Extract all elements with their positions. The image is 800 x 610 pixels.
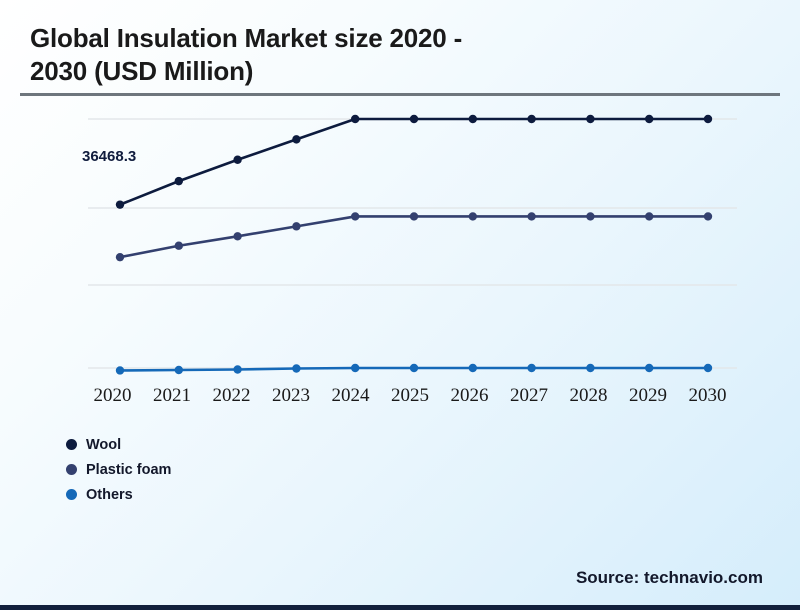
- data-point-others-2028[interactable]: [586, 364, 594, 372]
- legend-label: Others: [86, 487, 133, 503]
- x-tick-label-2020: 2020: [83, 385, 142, 407]
- data-point-others-2022[interactable]: [233, 365, 241, 373]
- data-point-others-2024[interactable]: [351, 364, 359, 372]
- data-point-others-2020[interactable]: [116, 366, 124, 374]
- chart-legend: WoolPlastic foamOthers: [66, 432, 171, 507]
- data-point-wool-2023[interactable]: [292, 135, 300, 143]
- x-tick-label-2027: 2027: [500, 385, 559, 407]
- data-point-wool-2020[interactable]: [116, 200, 124, 208]
- data-point-plastic-foam-2025[interactable]: [410, 212, 418, 220]
- x-tick-label-2025: 2025: [381, 385, 440, 407]
- data-point-wool-2024[interactable]: [351, 115, 359, 123]
- data-point-wool-2029[interactable]: [645, 115, 653, 123]
- legend-item-wool[interactable]: Wool: [66, 432, 171, 457]
- data-point-wool-2025[interactable]: [410, 115, 418, 123]
- source-attribution: Source: technavio.com: [576, 568, 763, 588]
- x-tick-label-2021: 2021: [143, 385, 202, 407]
- data-point-plastic-foam-2030[interactable]: [704, 212, 712, 220]
- data-point-others-2025[interactable]: [410, 364, 418, 372]
- legend-dot-icon: [66, 464, 77, 475]
- x-tick-label-2023: 2023: [262, 385, 321, 407]
- line-chart-svg: [0, 0, 800, 610]
- data-point-others-2027[interactable]: [527, 364, 535, 372]
- legend-dot-icon: [66, 489, 77, 500]
- data-point-wool-2030[interactable]: [704, 115, 712, 123]
- series-line-plastic-foam: [120, 216, 708, 257]
- data-point-plastic-foam-2023[interactable]: [292, 222, 300, 230]
- data-point-wool-2022[interactable]: [233, 156, 241, 164]
- x-tick-label-2028: 2028: [559, 385, 618, 407]
- x-tick-label-2026: 2026: [440, 385, 499, 407]
- data-point-wool-2027[interactable]: [527, 115, 535, 123]
- x-tick-label-2022: 2022: [202, 385, 261, 407]
- data-point-plastic-foam-2021[interactable]: [175, 242, 183, 250]
- infographic-card: Global Insulation Market size 2020 - 203…: [0, 0, 800, 610]
- x-tick-label-2030: 2030: [678, 385, 737, 407]
- data-point-plastic-foam-2027[interactable]: [527, 212, 535, 220]
- data-point-plastic-foam-2026[interactable]: [469, 212, 477, 220]
- x-tick-label-2024: 2024: [321, 385, 380, 407]
- data-point-others-2026[interactable]: [469, 364, 477, 372]
- chart-plot-area: [0, 0, 800, 610]
- data-point-plastic-foam-2024[interactable]: [351, 212, 359, 220]
- x-tick-label-2029: 2029: [619, 385, 678, 407]
- data-point-plastic-foam-2022[interactable]: [233, 232, 241, 240]
- data-point-others-2030[interactable]: [704, 364, 712, 372]
- series-group: [116, 115, 712, 375]
- x-axis-labels: 2020202120222023202420252026202720282029…: [88, 385, 737, 407]
- data-point-wool-2028[interactable]: [586, 115, 594, 123]
- legend-dot-icon: [66, 439, 77, 450]
- data-point-others-2029[interactable]: [645, 364, 653, 372]
- legend-label: Wool: [86, 437, 121, 453]
- data-point-others-2023[interactable]: [292, 364, 300, 372]
- legend-label: Plastic foam: [86, 462, 171, 478]
- data-point-plastic-foam-2028[interactable]: [586, 212, 594, 220]
- data-point-plastic-foam-2029[interactable]: [645, 212, 653, 220]
- data-point-others-2021[interactable]: [175, 366, 183, 374]
- data-label-wool-2020: 36468.3: [82, 148, 136, 165]
- data-point-wool-2026[interactable]: [469, 115, 477, 123]
- legend-item-others[interactable]: Others: [66, 482, 171, 507]
- series-line-wool: [120, 119, 708, 205]
- legend-item-plastic-foam[interactable]: Plastic foam: [66, 457, 171, 482]
- data-point-plastic-foam-2020[interactable]: [116, 253, 124, 261]
- data-point-wool-2021[interactable]: [175, 177, 183, 185]
